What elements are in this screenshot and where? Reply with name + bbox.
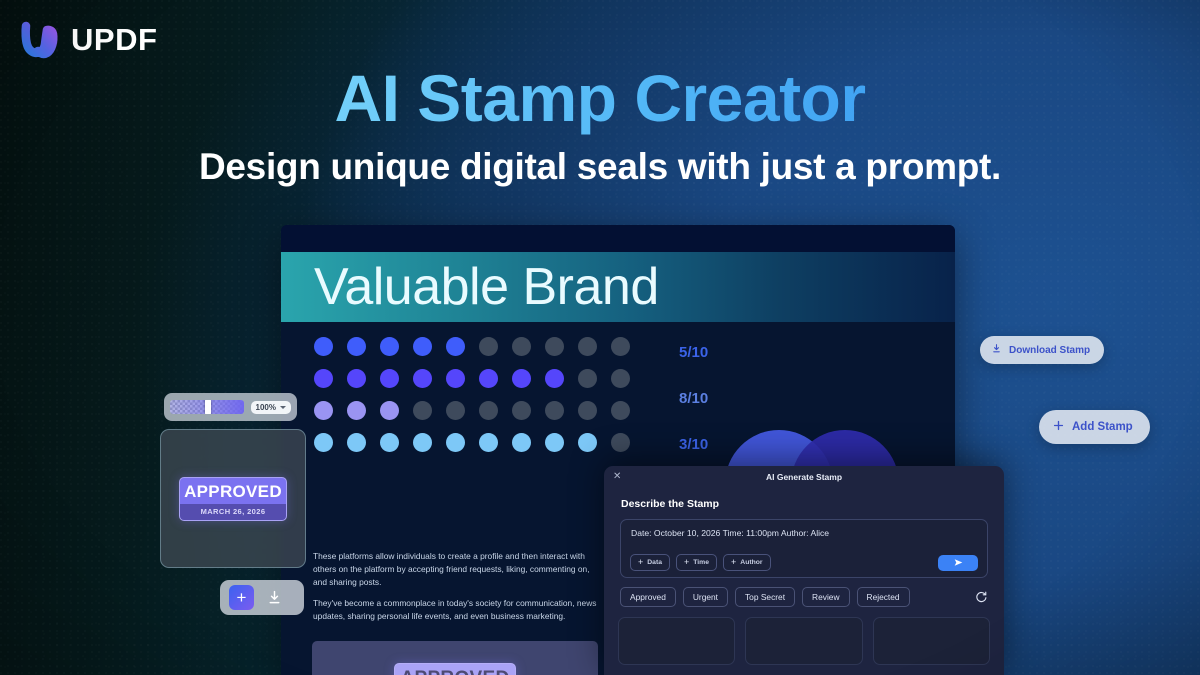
tag-top-secret[interactable]: Top Secret [735,587,795,607]
dot-empty [446,401,465,420]
dot-filled [545,369,564,388]
close-icon[interactable]: ✕ [613,472,621,482]
tag-approved[interactable]: Approved [620,587,676,607]
ratio-label: 8/10 [679,390,708,407]
refresh-icon[interactable] [973,590,988,605]
send-prompt-button[interactable] [938,555,978,571]
dot-filled [446,369,465,388]
stamp-preview-date: MARCH 26, 2026 [180,504,286,520]
brand-name: UPDF [71,22,157,58]
ai-generate-stamp-dialog: ✕ AI Generate Stamp Describe the Stamp D… [604,466,1004,675]
prompt-input-box[interactable]: Date: October 10, 2026 Time: 11:00pm Aut… [620,519,988,578]
prompt-input[interactable]: Date: October 10, 2026 Time: 11:00pm Aut… [631,528,977,538]
document-topbar [281,225,955,252]
plus-icon: + [731,558,736,567]
dot-row [314,369,630,388]
opacity-value-select[interactable]: 100% [251,401,291,414]
tag-review[interactable]: Review [802,587,849,607]
embedded-stamp[interactable]: APPROVED MARCH 26, 2026 [394,663,516,675]
dot-empty [413,401,432,420]
result-preview-card[interactable] [618,617,735,665]
result-preview-card[interactable] [873,617,990,665]
dot-row [314,337,630,356]
chevron-down-icon [280,406,286,409]
stamp-preview-label: APPROVED [180,478,286,504]
dot-filled [413,433,432,452]
opacity-slider[interactable] [170,400,244,414]
brand-logo: UPDF [16,18,157,62]
plus-icon [1052,419,1065,435]
dot-empty [545,337,564,356]
plus-icon: + [684,558,689,567]
opacity-value-label: 100% [256,403,276,412]
dot-filled [446,433,465,452]
embedded-stamp-label: APPROVED [395,664,515,675]
describe-stamp-heading: Describe the Stamp [621,498,1004,510]
dot-filled [479,369,498,388]
plus-icon[interactable]: + [229,585,254,610]
dot-empty [545,401,564,420]
dot-filled [578,433,597,452]
dot-filled [380,433,399,452]
insert-chip-label: Author [740,559,762,566]
dot-filled [314,337,333,356]
dot-filled [314,401,333,420]
stamp-preview-card[interactable]: APPROVED MARCH 26, 2026 [160,429,306,568]
dot-filled [512,369,531,388]
tag-rejected[interactable]: Rejected [857,587,910,607]
updf-u-logo-icon [16,18,60,62]
dot-filled [380,337,399,356]
document-header-band: Valuable Brand [281,252,955,322]
add-stamp-label: Add Stamp [1072,421,1133,433]
dot-empty [611,401,630,420]
dot-empty [578,337,597,356]
dot-filled [545,433,564,452]
tag-urgent[interactable]: Urgent [683,587,728,607]
dot-empty [611,433,630,452]
stamp-preview[interactable]: APPROVED MARCH 26, 2026 [179,477,287,521]
dot-filled [380,401,399,420]
insert-chip-time[interactable]: +Time [676,554,717,571]
download-stamp-button[interactable]: Download Stamp [980,336,1104,364]
dot-grid [314,337,630,465]
add-stamp-button[interactable]: Add Stamp [1039,410,1150,444]
ratio-list: 5/108/103/10 [679,344,708,482]
send-icon [953,557,964,568]
dot-empty [611,337,630,356]
insert-chip-label: Time [693,559,709,566]
result-preview-card[interactable] [745,617,862,665]
opacity-toolbar[interactable]: 100% [164,393,297,421]
dot-filled [314,433,333,452]
plus-icon: + [638,558,643,567]
document-band-title: Valuable Brand [314,261,659,313]
dot-filled [413,369,432,388]
document-paragraphs: These platforms allow individuals to cre… [313,550,598,632]
dot-filled [347,433,366,452]
stamp-tool-pill[interactable]: + [220,580,304,615]
dot-filled [479,433,498,452]
dot-filled [446,337,465,356]
insert-chip-row: +Data+Time+Author [630,554,978,571]
opacity-slider-handle[interactable] [205,400,211,414]
dot-filled [380,369,399,388]
download-icon[interactable] [264,588,284,608]
dot-filled [347,401,366,420]
insert-chip-label: Data [647,559,662,566]
dot-filled [512,433,531,452]
dot-filled [413,337,432,356]
page-subtitle: Design unique digital seals with just a … [0,146,1200,188]
dot-filled [347,337,366,356]
document-stamp-slot: APPROVED MARCH 26, 2026 [312,641,598,675]
page-root: UPDF AI Stamp Creator Design unique digi… [0,0,1200,675]
dot-filled [314,369,333,388]
tag-suggestion-row: ApprovedUrgentTop SecretReviewRejected [620,587,988,607]
download-icon [991,343,1002,357]
dot-empty [578,401,597,420]
dot-filled [347,369,366,388]
result-preview-row [618,617,990,665]
dot-empty [512,337,531,356]
page-title: AI Stamp Creator [0,60,1200,136]
insert-chip-data[interactable]: +Data [630,554,670,571]
ratio-label: 5/10 [679,344,708,361]
dot-empty [479,401,498,420]
document-paragraph: These platforms allow individuals to cre… [313,550,598,588]
dot-row [314,433,630,452]
dialog-title-bar: ✕ AI Generate Stamp [604,466,1004,488]
dot-empty [512,401,531,420]
document-paragraph: They've become a commonplace in today's … [313,597,598,623]
insert-chip-author[interactable]: +Author [723,554,771,571]
dot-row [314,401,630,420]
download-stamp-label: Download Stamp [1009,345,1090,356]
ratio-label: 3/10 [679,436,708,453]
dialog-title: AI Generate Stamp [766,472,842,482]
dot-empty [611,369,630,388]
dot-empty [578,369,597,388]
dot-empty [479,337,498,356]
